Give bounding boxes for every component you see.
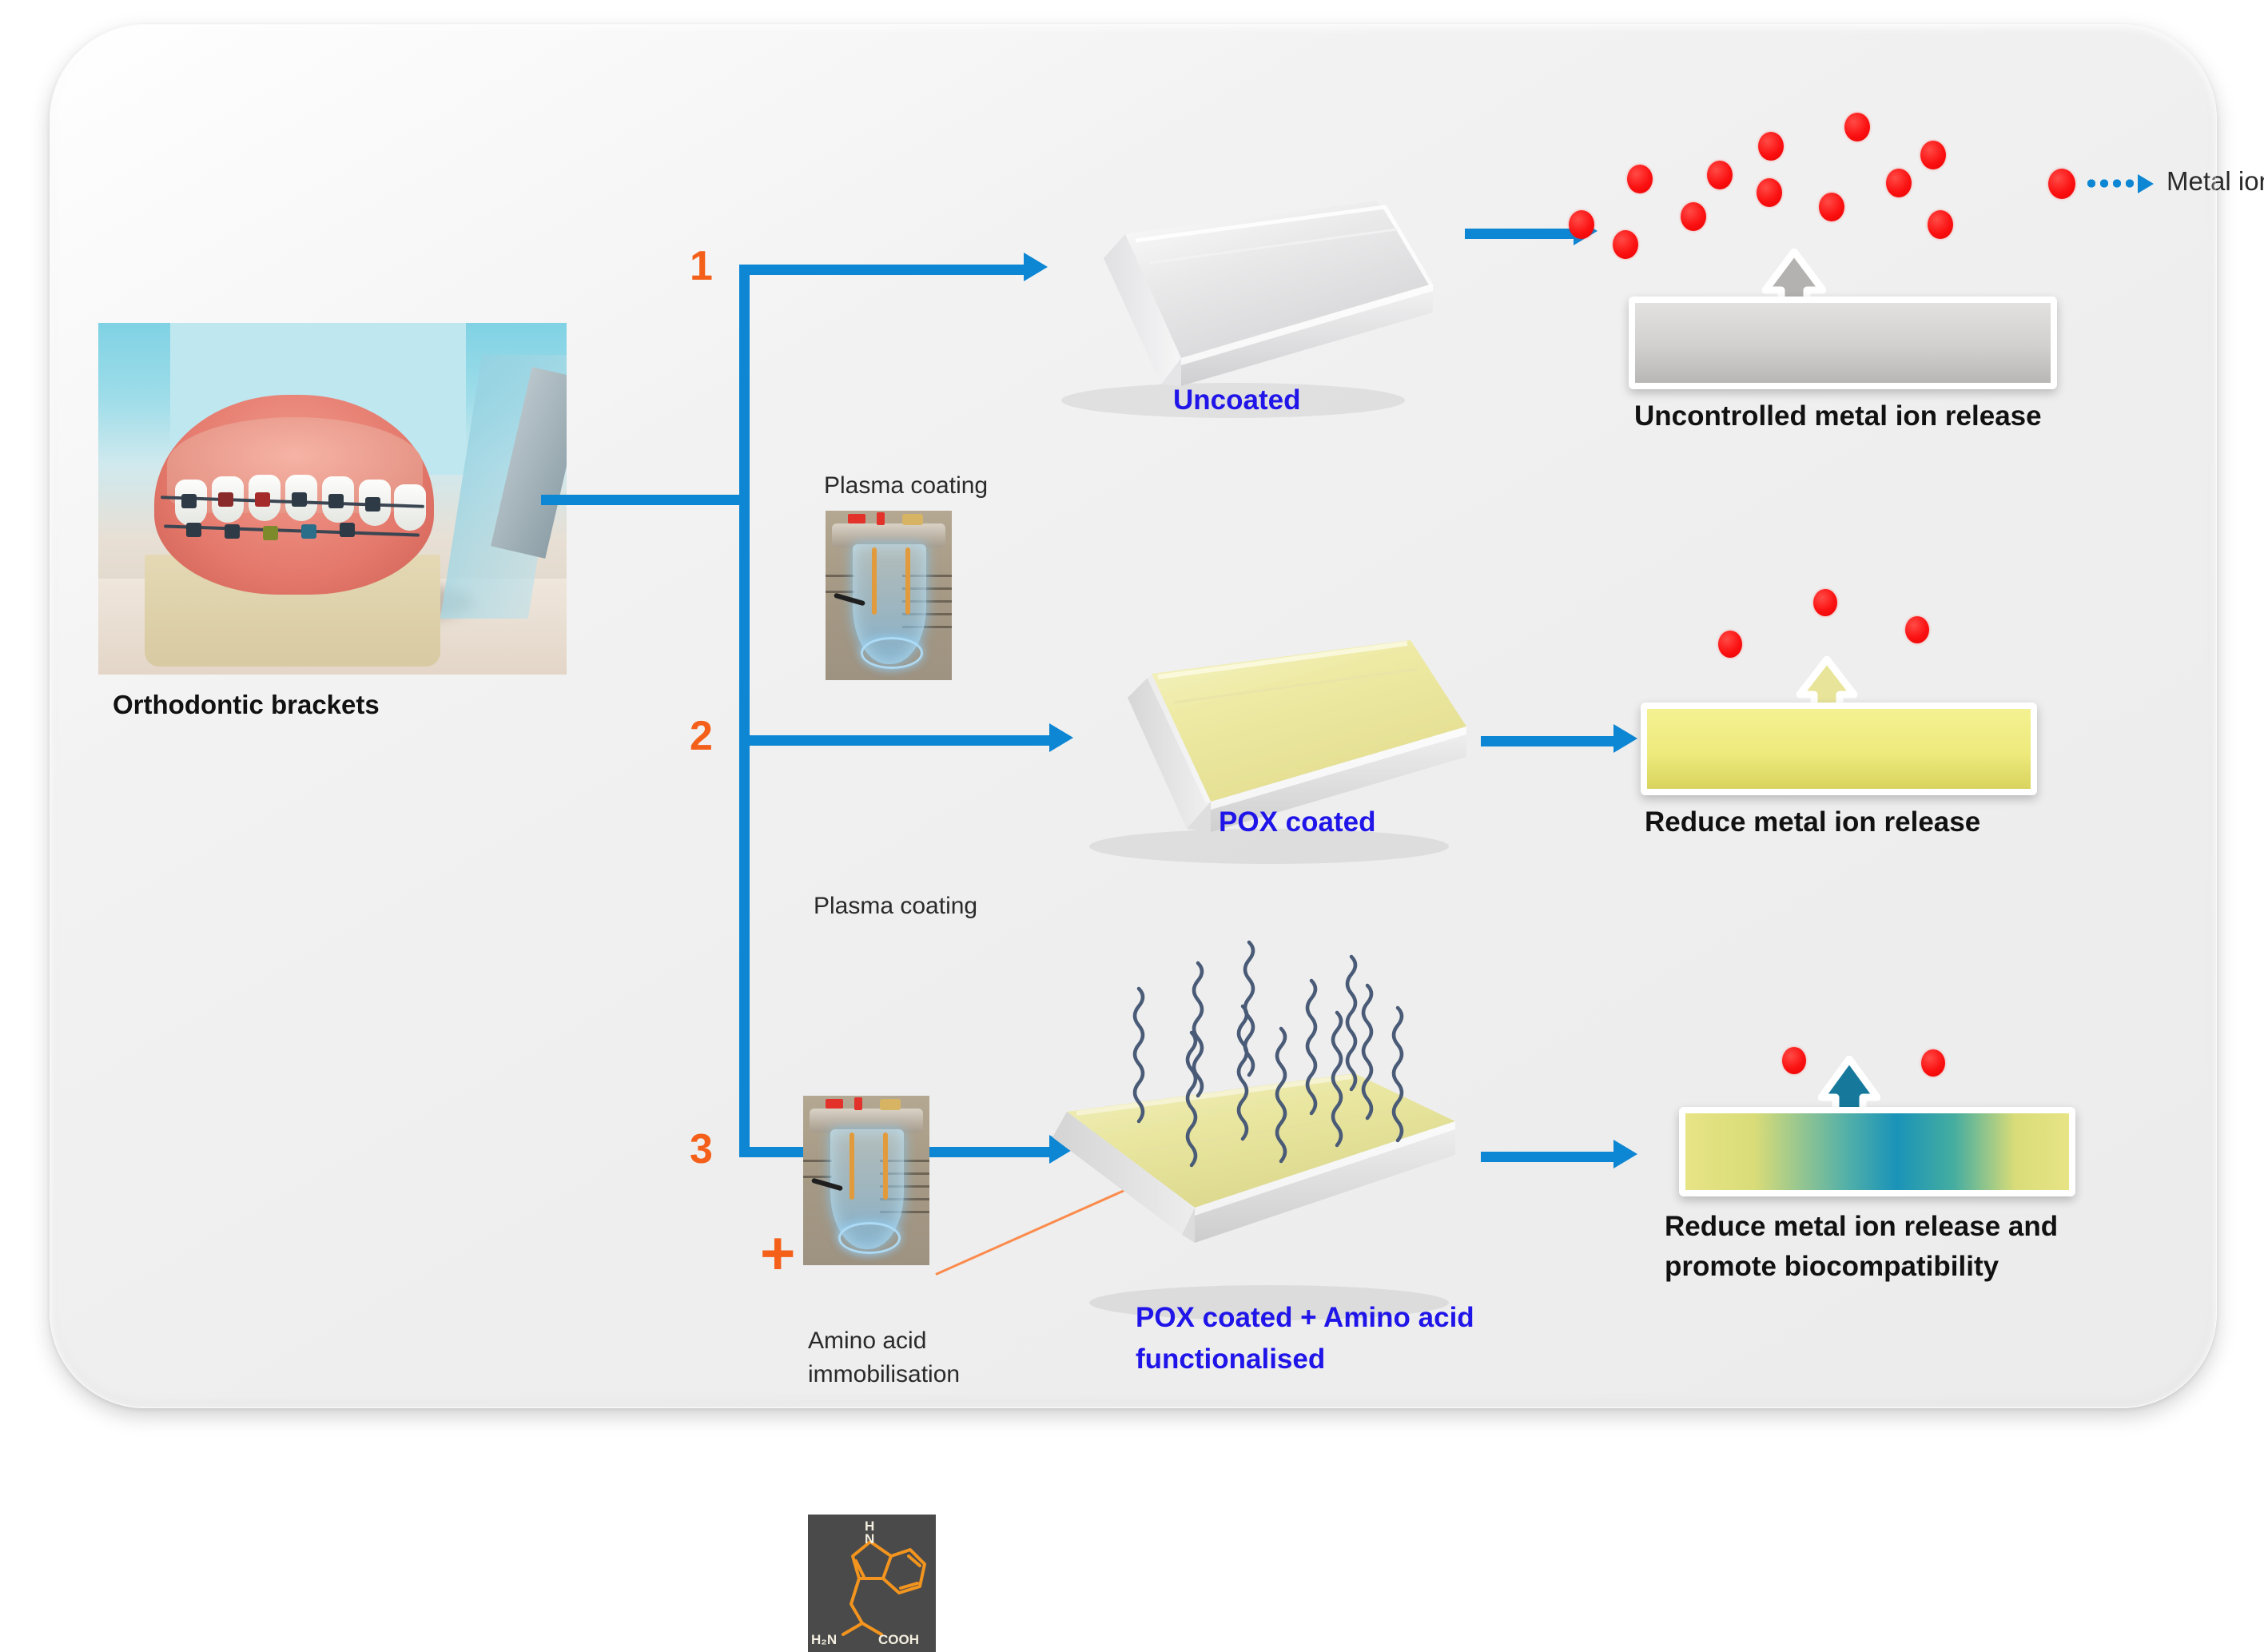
branch-2-result-arrowhead	[1613, 724, 1637, 753]
branch-3-result-bar	[1679, 1107, 2075, 1196]
branch-1-result-line	[1465, 229, 1577, 239]
trunk-connector-vertical	[739, 265, 750, 1147]
pox-amino-functionalised-slab	[1041, 953, 1489, 1329]
legend-arrow-line	[2085, 179, 2141, 188]
branch-1-outcome-label: Uncontrolled metal ion release	[1634, 400, 2042, 432]
amino-acid-caption-line2: immobilisation	[808, 1361, 960, 1388]
legend-ion-marker	[2048, 169, 2075, 199]
branch-2-plasma-reactor-photo	[826, 511, 952, 680]
svg-text:H₂N: H₂N	[811, 1632, 837, 1647]
figure-panel: Orthodontic brackets 1	[50, 24, 2217, 1408]
branch-number-1: 1	[690, 242, 713, 290]
branch-3-result-arrowhead	[1613, 1140, 1637, 1168]
branch-2-result-line	[1481, 736, 1617, 746]
orthodontic-brackets-caption: Orthodontic brackets	[113, 690, 380, 720]
branch-3-process-label: Plasma coating	[814, 893, 977, 920]
branch-2-arrow-line	[739, 735, 1051, 746]
branch-number-2: 2	[690, 712, 713, 760]
branch-3-outcome-label-line1: Reduce metal ion release and	[1665, 1211, 2058, 1243]
amino-acid-structure-image: H N H₂N COOH	[808, 1515, 936, 1652]
branch-1-arrow-line	[739, 265, 1025, 275]
branch-number-3: 3	[690, 1125, 713, 1173]
pox-amino-label-line2: functionalised	[1136, 1343, 1325, 1375]
branch-2-process-label: Plasma coating	[824, 472, 988, 500]
branch-1-result-bar	[1629, 297, 2057, 389]
branch-2-result-bar	[1641, 703, 2037, 795]
plus-symbol: +	[760, 1224, 795, 1284]
trunk-connector-horizontal	[541, 495, 739, 505]
branch-3-result-line	[1481, 1152, 1617, 1162]
orthodontic-brackets-photo	[98, 323, 567, 675]
amino-acid-caption-line1: Amino acid	[808, 1328, 926, 1355]
branch-2-outcome-label: Reduce metal ion release	[1645, 806, 1980, 838]
legend-arrowhead	[2138, 174, 2154, 193]
pox-amino-label-line1: POX coated + Amino acid	[1136, 1302, 1474, 1334]
branch-3-plasma-reactor-photo	[803, 1096, 929, 1265]
uncoated-label: Uncoated	[1173, 384, 1300, 416]
svg-text:COOH: COOH	[878, 1632, 919, 1647]
pox-coated-label: POX coated	[1219, 806, 1375, 838]
branch-3-outcome-label-line2: promote biocompatibility	[1665, 1251, 1999, 1283]
svg-text:N: N	[865, 1531, 874, 1547]
legend-label: Metal ion	[2167, 166, 2264, 197]
